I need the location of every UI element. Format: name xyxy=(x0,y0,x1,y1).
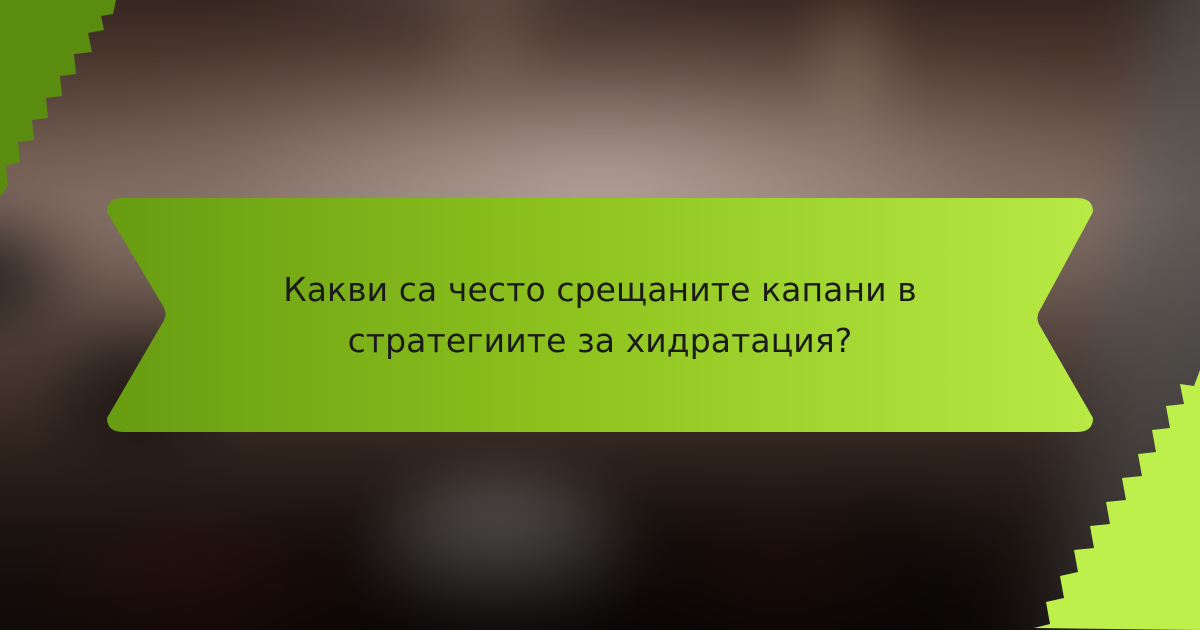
headline-line-2: стратегиите за хидратация? xyxy=(348,315,853,366)
social-card: Какви са често срещаните капани в страте… xyxy=(0,0,1200,630)
headline-line-1: Какви са често срещаните капани в xyxy=(283,264,917,315)
headline-text: Какви са често срещаните капани в страте… xyxy=(170,198,1030,432)
